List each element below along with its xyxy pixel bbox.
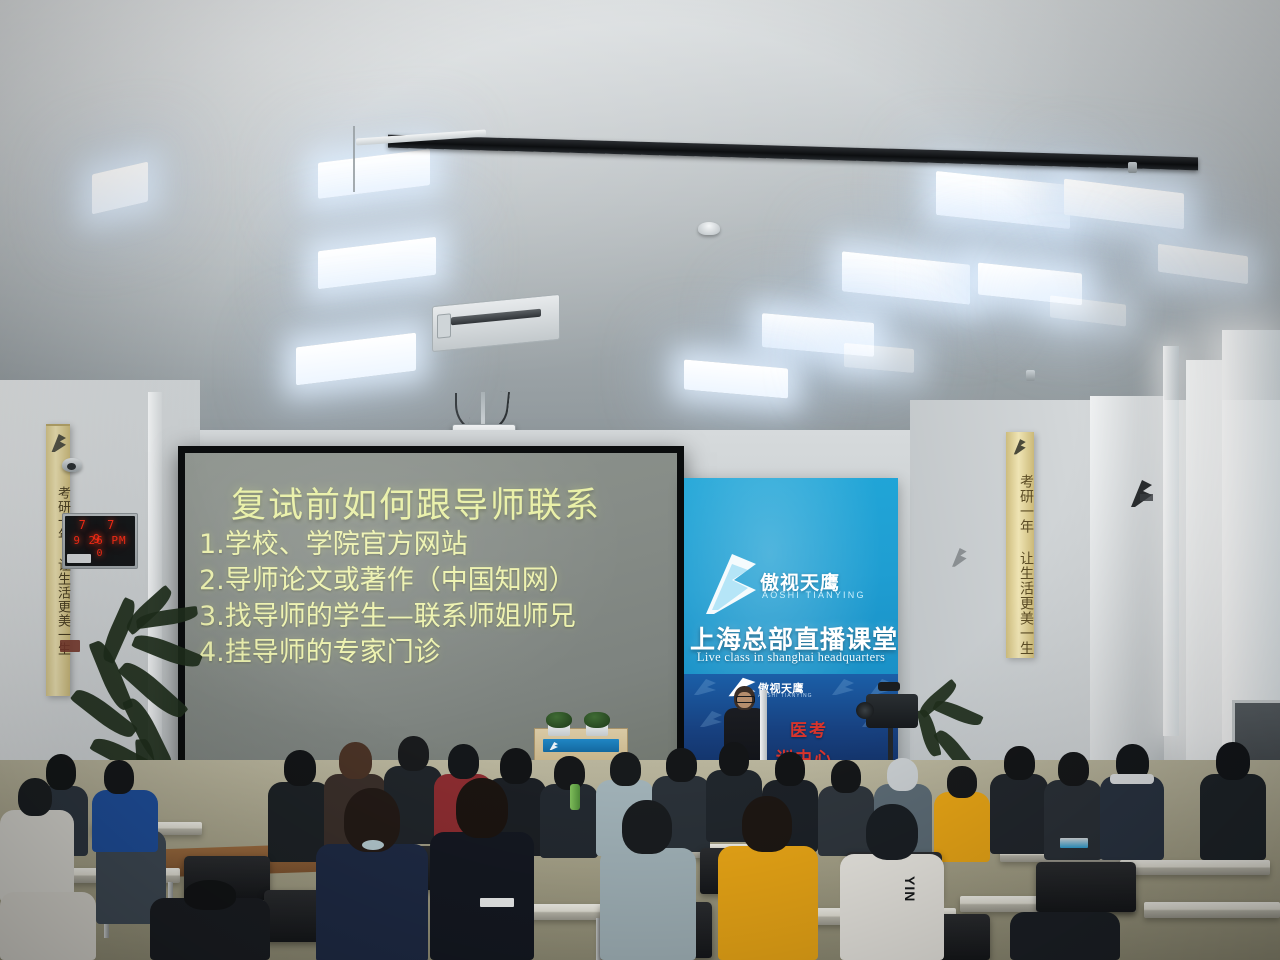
potted-plant-foliage <box>546 712 572 728</box>
vent-slot <box>451 309 541 326</box>
slide-bullet: 1.学校、学院官方网站 <box>199 527 671 563</box>
banner-brand-en: AOSHI TIANYING <box>762 590 866 600</box>
audience-person <box>1100 744 1164 856</box>
person-head <box>610 752 641 786</box>
slide-bullet: 4.挂导师的专家门诊 <box>199 635 671 671</box>
audience-person-foreground <box>1010 900 1120 960</box>
person-head <box>456 778 508 838</box>
potted-plant-foliage <box>584 712 610 728</box>
person-torso <box>718 846 818 960</box>
right-column-far <box>1186 360 1222 800</box>
jacket-text-label: YIN <box>902 876 918 902</box>
person-torso <box>840 854 944 960</box>
person-torso <box>1100 776 1164 860</box>
eagle-watermark-icon <box>698 710 724 728</box>
person-head <box>104 760 134 794</box>
person-torso <box>600 848 696 960</box>
person-torso <box>990 774 1048 854</box>
eagle-logo-icon <box>698 550 760 616</box>
person-collar <box>1110 774 1154 784</box>
window-light <box>1222 330 1280 750</box>
hanging-scroll-banner-right: 考研一年 让生活更美一生 <box>1006 432 1034 658</box>
scroll-banner-text: 考研一年 让生活更美一生 <box>1006 474 1034 656</box>
palm-frond <box>932 696 983 729</box>
person-head <box>18 778 52 816</box>
person-head <box>339 742 372 779</box>
led-clock-time: 9 26 PM <box>65 534 135 547</box>
audience-person-foreground: YIN <box>840 804 944 960</box>
person-torso <box>92 790 158 852</box>
person-torso <box>1044 780 1102 860</box>
audience-person-foreground <box>600 800 696 960</box>
eagle-logo-icon <box>950 546 968 568</box>
slide-bullet: 3.找导师的学生—联系师姐师兄 <box>199 599 671 635</box>
person-head <box>184 880 236 910</box>
audience-person-foreground <box>718 796 818 960</box>
wall-logo-decal <box>1128 478 1154 508</box>
camera-lens <box>856 702 874 719</box>
classroom-photo: 考研一年 让生活更美一生 复试前如何跟导师联系 1.学校、学院官方网站 2.导师… <box>0 0 1280 960</box>
eagle-watermark-icon <box>692 678 718 696</box>
person-torso <box>1200 774 1266 860</box>
person-head <box>775 752 805 786</box>
smoke-detector-icon <box>698 222 720 235</box>
person-head <box>448 744 479 779</box>
paper-sheet <box>480 898 514 907</box>
person-head <box>398 736 429 771</box>
person-head <box>1058 752 1089 786</box>
person-torso <box>540 784 598 858</box>
audience-person-foreground <box>150 880 270 960</box>
eagle-logo-icon <box>50 434 66 452</box>
person-head <box>831 760 861 793</box>
sprinkler-icon <box>1128 162 1137 173</box>
palm-frond <box>131 630 203 673</box>
person-torso <box>316 844 428 960</box>
vent-sidebox <box>437 313 451 338</box>
podium-logo-plate <box>543 739 619 752</box>
person-torso <box>0 892 96 960</box>
audience-person <box>540 756 598 854</box>
slide-bullet: 2.导师论文或著作（中国知网） <box>199 563 671 599</box>
slide-title: 复试前如何跟导师联系 <box>231 477 601 528</box>
sprinkler-icon <box>1026 370 1035 381</box>
audience-person-foreground <box>430 778 534 960</box>
scroll-banner-text-left: 考研一年 让生活更美一生 <box>46 486 70 656</box>
audience-person-foreground <box>316 788 428 960</box>
water-bottle <box>570 784 580 810</box>
person-head <box>284 750 316 786</box>
banner-lower-red-line1: 医考 <box>790 716 828 741</box>
led-clock-face: 7 7 9 9 26 PM 0 <box>65 516 135 566</box>
eyeglasses-icon <box>736 696 755 703</box>
person-head <box>887 758 918 791</box>
hair-tie-icon <box>362 840 384 850</box>
student-desk <box>1144 902 1280 918</box>
led-clock-label <box>67 554 91 563</box>
person-head <box>866 804 918 860</box>
person-head <box>1216 742 1250 780</box>
person-torso <box>430 832 534 960</box>
camera-shotgun-mic <box>878 682 900 691</box>
slide-bullet-list: 1.学校、学院官方网站 2.导师论文或著作（中国知网） 3.找导师的学生—联系师… <box>199 527 671 671</box>
audience-person <box>92 760 158 848</box>
audience-person <box>1200 742 1266 856</box>
person-head <box>742 796 792 852</box>
person-head <box>622 800 672 854</box>
audience-person <box>990 746 1048 850</box>
wall-logo-text <box>1140 494 1153 501</box>
person-torso <box>1010 912 1120 960</box>
book-stack <box>1060 838 1088 848</box>
wall-logo-decal <box>950 546 968 568</box>
banner-headline-en: Live class in shanghai headquarters <box>690 650 892 665</box>
person-head <box>719 742 749 776</box>
led-clock-display: 7 7 9 9 26 PM 0 <box>62 513 138 569</box>
window-light <box>1163 346 1179 736</box>
person-head <box>1004 746 1035 780</box>
hanging-wire <box>353 126 355 192</box>
projector-mount-arm <box>481 392 485 428</box>
security-camera-icon <box>62 458 82 472</box>
person-head <box>666 748 697 782</box>
eagle-watermark-icon <box>830 678 856 696</box>
audience-person-foreground <box>0 872 96 960</box>
student-desk <box>1120 860 1270 875</box>
person-head <box>947 766 977 798</box>
eagle-logo-icon <box>1128 478 1154 508</box>
eagle-logo-icon <box>1012 438 1027 455</box>
